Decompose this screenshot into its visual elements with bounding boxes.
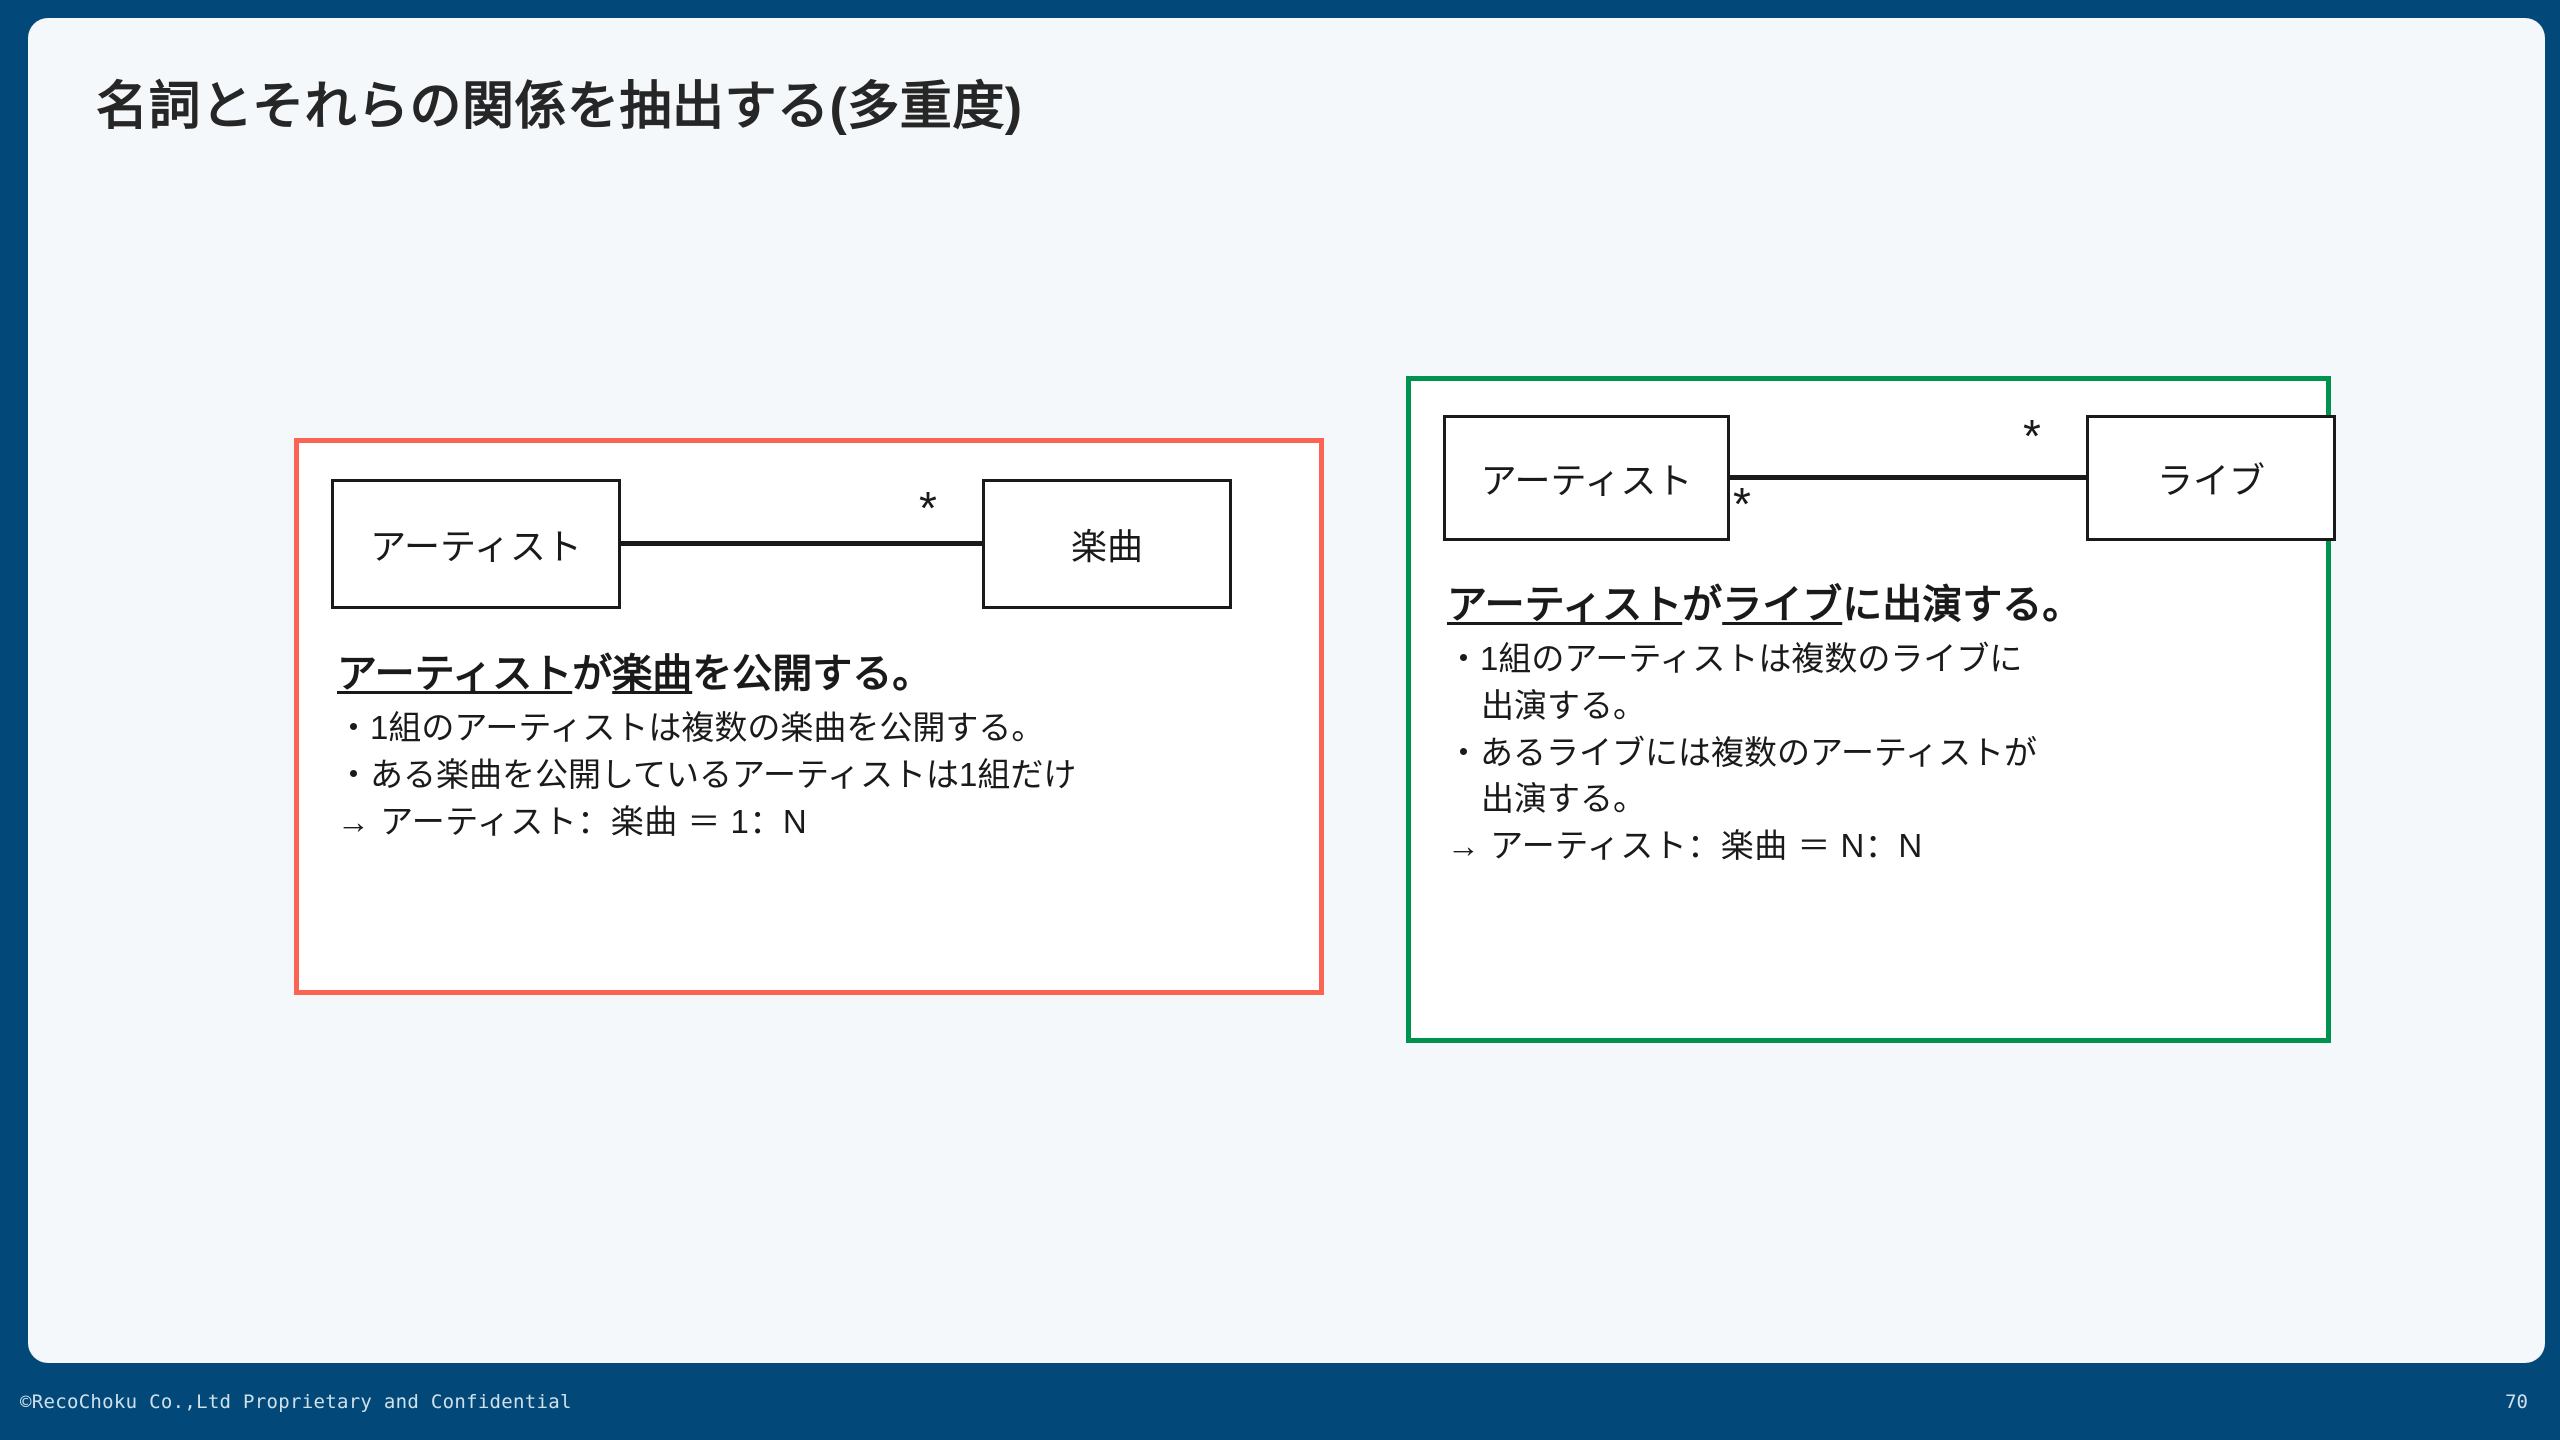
panel-one-to-n: アーティスト * 楽曲 アーティストが楽曲を公開する。 ・1組のアーティストは複… — [294, 438, 1324, 995]
slide-root: 名詞とそれらの関係を抽出する(多重度) アーティスト * 楽曲 アーティストが楽… — [0, 0, 2560, 1440]
uml-class-box-song: 楽曲 — [982, 479, 1232, 609]
uml-multiplicity-right: * — [2023, 413, 2041, 459]
uml-class-box-live: ライブ — [2086, 415, 2336, 541]
footer-copyright: ©RecoChoku Co.,Ltd Proprietary and Confi… — [20, 1391, 572, 1413]
relationship-particle-a: が — [1682, 583, 1722, 627]
relationship-noun-a: アーティスト — [1447, 583, 1682, 627]
uml-class-box-artist: アーティスト — [1443, 415, 1730, 541]
bullet-item: ・1組のアーティストは複数のライブに — [1447, 636, 2082, 683]
uml-association-line — [617, 541, 987, 546]
relationship-sentence: アーティストが楽曲を公開する。 — [337, 648, 1076, 701]
relationship-noun-a: アーティスト — [337, 652, 572, 696]
relationship-predicate: を公開する。 — [692, 652, 932, 696]
bullet-item: ・1組のアーティストは複数の楽曲を公開する。 — [337, 705, 1076, 752]
relationship-predicate: に出演する。 — [1842, 583, 2082, 627]
panel-n-to-n: アーティスト * * ライブ アーティストがライブに出演する。 ・1組のアーティ… — [1406, 376, 2331, 1043]
uml-multiplicity-left: * — [1733, 481, 1751, 527]
uml-class-box-artist: アーティスト — [331, 479, 621, 609]
panel-n-to-n-text: アーティストがライブに出演する。 ・1組のアーティストは複数のライブに 出演する… — [1447, 579, 2082, 870]
relationship-noun-b: 楽曲 — [612, 652, 692, 696]
panel-one-to-n-text: アーティストが楽曲を公開する。 ・1組のアーティストは複数の楽曲を公開する。 ・… — [337, 648, 1076, 845]
slide-card: 名詞とそれらの関係を抽出する(多重度) アーティスト * 楽曲 アーティストが楽… — [28, 18, 2545, 1363]
multiplicity-conclusion: → アーティスト：楽曲 ＝ N：N — [1447, 823, 2082, 870]
bullet-item: ・あるライブには複数のアーティストが — [1447, 730, 2082, 777]
multiplicity-conclusion: → アーティスト：楽曲 ＝ 1：N — [337, 799, 1076, 846]
page-title: 名詞とそれらの関係を抽出する(多重度) — [96, 64, 1023, 139]
relationship-particle-a: が — [572, 652, 612, 696]
bullet-item-continuation: 出演する。 — [1447, 683, 2082, 730]
footer-page-number: 70 — [2505, 1391, 2528, 1413]
bullet-item: ・ある楽曲を公開しているアーティストは1組だけ — [337, 752, 1076, 799]
relationship-noun-b: ライブ — [1722, 583, 1842, 627]
uml-association-line — [1726, 475, 2090, 480]
relationship-sentence: アーティストがライブに出演する。 — [1447, 579, 2082, 632]
bullet-item-continuation: 出演する。 — [1447, 776, 2082, 823]
uml-multiplicity-right: * — [919, 485, 937, 531]
